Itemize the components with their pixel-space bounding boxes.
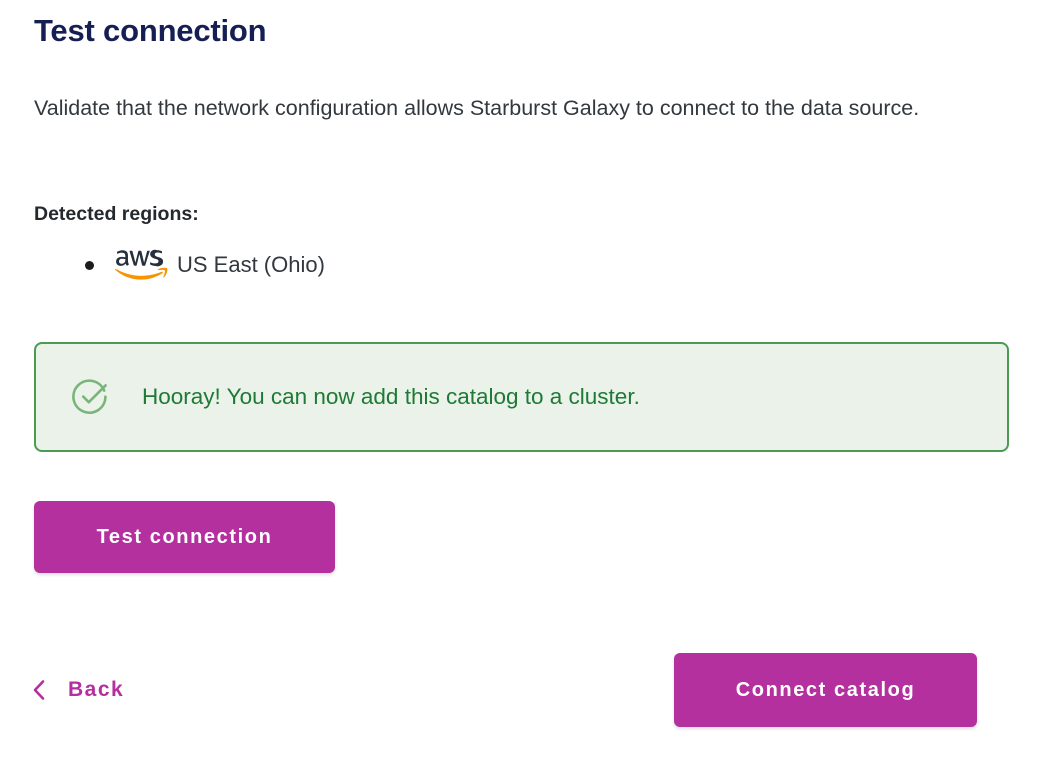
detected-regions-list: US East (Ohio) <box>34 248 325 282</box>
back-button-label: Back <box>68 678 124 702</box>
check-circle-icon <box>72 378 110 416</box>
detected-regions-label: Detected regions: <box>34 199 199 229</box>
bullet-icon <box>85 261 94 270</box>
status-banner-success: Hooray! You can now add this catalog to … <box>34 342 1009 452</box>
chevron-left-icon <box>31 679 47 701</box>
aws-logo-icon <box>115 248 169 282</box>
status-banner-message: Hooray! You can now add this catalog to … <box>142 382 640 412</box>
test-connection-button[interactable]: Test connection <box>34 501 335 573</box>
test-connection-panel: Test connection Validate that the networ… <box>0 0 1044 778</box>
back-button[interactable]: Back <box>31 668 124 712</box>
page-description: Validate that the network configuration … <box>34 84 994 132</box>
connect-catalog-button[interactable]: Connect catalog <box>674 653 977 727</box>
list-item: US East (Ohio) <box>34 248 325 282</box>
region-name: US East (Ohio) <box>177 248 325 282</box>
page-title: Test connection <box>34 10 266 52</box>
